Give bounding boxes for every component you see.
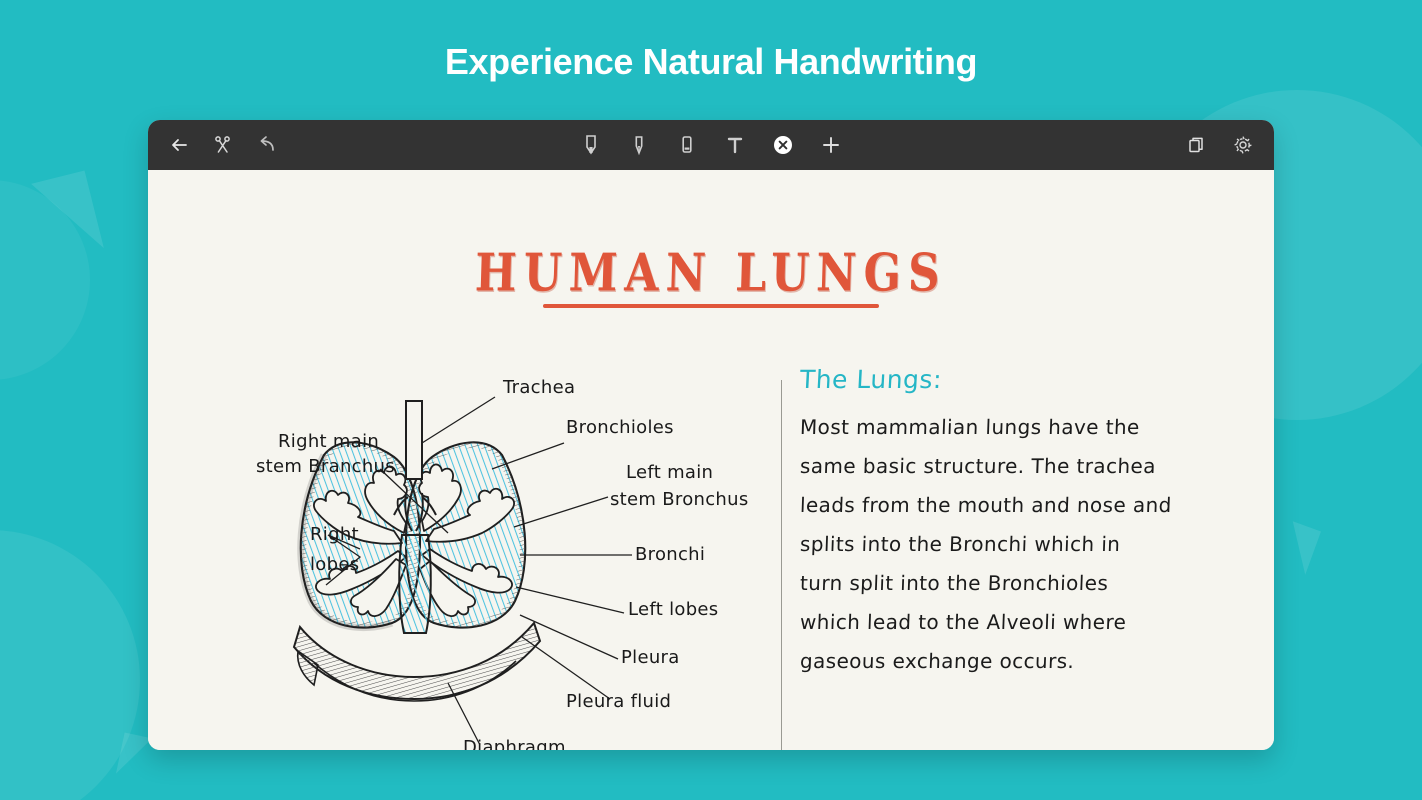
paragraph-line: which lead to the Alveoli where — [799, 603, 1220, 642]
page-headline: Experience Natural Handwriting — [0, 41, 1422, 83]
label-trachea: Trachea — [502, 377, 575, 398]
text-heading: The Lungs: — [799, 365, 1221, 394]
note-canvas[interactable]: HUMAN LUNGS — [148, 170, 1274, 750]
diaphragm — [294, 623, 540, 701]
decor-triangle-bottom — [116, 733, 152, 780]
decor-circle-tiny — [0, 180, 90, 380]
toolbar-tool-group — [576, 130, 846, 160]
add-icon[interactable] — [816, 130, 846, 160]
label-left-main-stem-1: Left main — [626, 462, 713, 483]
label-right-main-stem-1: Right main — [278, 431, 379, 452]
lung-diagram: Trachea Bronchioles Right main stem Bran… — [148, 365, 781, 750]
back-icon[interactable] — [164, 130, 194, 160]
label-right-lobes-2: lobes — [310, 554, 359, 575]
paragraph-line: Most mammalian lungs have the — [799, 408, 1220, 447]
paragraph-line: turn split into the Bronchioles — [799, 564, 1220, 603]
paragraph-line: same basic structure. The trachea — [799, 447, 1220, 486]
paragraph-line: splits into the Bronchi which in — [799, 525, 1220, 564]
undo-icon[interactable] — [252, 130, 282, 160]
toolbar-left-group — [164, 130, 282, 160]
highlighter-icon[interactable] — [672, 130, 702, 160]
note-body: Trachea Bronchioles Right main stem Bran… — [148, 365, 1274, 750]
copy-pages-icon[interactable] — [1182, 130, 1212, 160]
label-pleura: Pleura — [621, 647, 680, 668]
paragraph-line: gaseous exchange occurs. — [799, 642, 1220, 681]
label-bronchi: Bronchi — [635, 544, 705, 565]
label-pleura-fluid: Pleura fluid — [566, 691, 671, 712]
label-bronchioles: Bronchioles — [566, 417, 674, 438]
app-toolbar — [148, 120, 1274, 170]
label-left-lobes: Left lobes — [628, 599, 718, 620]
pencil-icon[interactable] — [624, 130, 654, 160]
pen-icon[interactable] — [576, 130, 606, 160]
note-title-wrapper: HUMAN LUNGS — [148, 248, 1274, 299]
gear-icon[interactable] — [1228, 130, 1258, 160]
scissors-icon[interactable] — [208, 130, 238, 160]
lung-diagram-column: Trachea Bronchioles Right main stem Bran… — [148, 365, 781, 750]
toolbar-right-group — [1182, 130, 1258, 160]
note-title: HUMAN LUNGS — [474, 243, 948, 303]
decor-triangle-left — [31, 171, 104, 262]
column-divider — [781, 380, 782, 750]
label-right-lobes-1: Right — [310, 524, 359, 545]
note-title-underline — [543, 304, 879, 308]
label-diaphragm: Diaphragm — [463, 737, 566, 750]
decor-circle-small — [0, 530, 140, 800]
eraser-close-icon[interactable] — [768, 130, 798, 160]
note-text-column: The Lungs: Most mammalian lungs have the… — [800, 365, 1220, 681]
note-app-window: HUMAN LUNGS — [148, 120, 1274, 750]
text-tool-icon[interactable] — [720, 130, 750, 160]
decor-triangle-right — [1277, 521, 1321, 574]
label-left-main-stem-2: stem Bronchus — [610, 489, 749, 510]
paragraph-line: leads from the mouth and nose and — [799, 486, 1220, 525]
label-right-main-stem-2: stem Branchus — [256, 456, 395, 477]
